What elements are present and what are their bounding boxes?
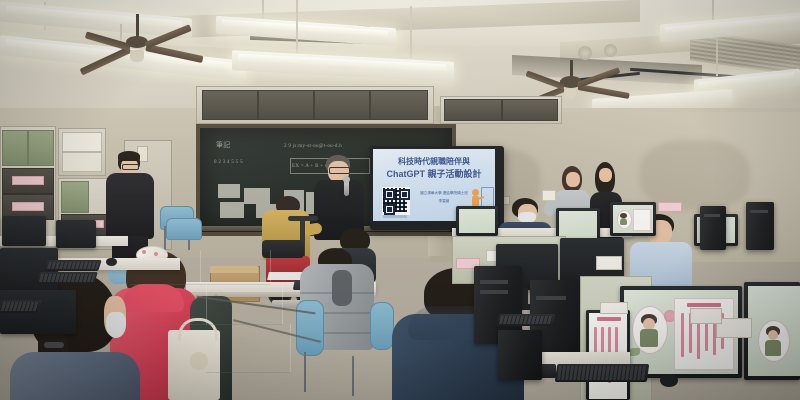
fleece-person-body bbox=[10, 352, 140, 400]
partition-label-2 bbox=[600, 302, 628, 314]
upper-cabinet-right-door-2 bbox=[502, 99, 558, 121]
mouse-front-left[interactable] bbox=[106, 258, 117, 266]
storage-door-green-3 bbox=[61, 181, 89, 213]
chair-puffer-back[interactable] bbox=[370, 302, 394, 350]
poster-figure-head-2 bbox=[768, 330, 778, 340]
slide-subtitle-line1: 國立清華大學 連結學院碩士班 bbox=[413, 191, 475, 196]
slide-qr-code[interactable] bbox=[382, 187, 410, 215]
upper-cabinet-door-2 bbox=[258, 90, 314, 120]
light-rod-6 bbox=[712, 0, 714, 22]
slide-watermark bbox=[383, 215, 407, 218]
standing-woman-left-body bbox=[106, 173, 154, 239]
standing-woman-left-glasses bbox=[122, 164, 139, 170]
poster-figure-body-back bbox=[620, 218, 627, 225]
board-paper-2 bbox=[244, 188, 270, 204]
chair-puffer[interactable] bbox=[296, 300, 324, 356]
wall-stain-2 bbox=[640, 140, 750, 210]
fan-light-left bbox=[130, 50, 144, 62]
monitor-front-right-secondary-screen bbox=[748, 286, 800, 376]
board-paper-3 bbox=[220, 202, 244, 218]
ceiling-speaker-right bbox=[604, 44, 617, 57]
left-cabinet-shelf-2 bbox=[62, 152, 102, 172]
standing-woman-a-held-paper bbox=[542, 190, 556, 201]
fan-rod-left bbox=[136, 14, 139, 38]
pc-slot-rb-2 bbox=[750, 210, 768, 213]
fan-light-right bbox=[564, 89, 576, 99]
keyboard-front-left-1[interactable] bbox=[44, 260, 102, 271]
poster-left-heading bbox=[597, 317, 621, 321]
storage-door-green-1 bbox=[2, 130, 28, 166]
puffer-seam-1 bbox=[300, 292, 374, 294]
chair-puffer-leg-b bbox=[352, 356, 354, 396]
qr-eye-bl bbox=[384, 204, 395, 215]
storage-box-label-2 bbox=[12, 202, 44, 211]
upper-cabinet-door-4 bbox=[370, 90, 428, 120]
qr-eye-tl bbox=[384, 189, 395, 200]
fleece-person-mask bbox=[106, 312, 126, 338]
qr-eye-tr bbox=[399, 189, 410, 200]
chair-puffer-leg-a bbox=[304, 352, 306, 392]
chalk-note-4: 0 2 3 4 5 5 5 bbox=[214, 160, 243, 165]
board-paper-1 bbox=[218, 184, 240, 198]
chalk-note-2: 2 9 js:my-st-ou@t-ou-d.h bbox=[284, 144, 342, 149]
upper-cabinet-right-door-1 bbox=[444, 99, 502, 121]
slide-title-line1: 科技時代親職陪伴與 bbox=[381, 157, 487, 167]
monitor-label-right-back-3 bbox=[658, 202, 682, 212]
mouse-front-right[interactable] bbox=[660, 374, 678, 387]
light-rod-7 bbox=[716, 40, 718, 76]
keyboard-front-left-3[interactable] bbox=[0, 300, 42, 313]
monitor-right-back-2-screen bbox=[559, 211, 597, 239]
monitor-label-mid-2 bbox=[596, 256, 622, 270]
slide-figure-head bbox=[472, 189, 479, 196]
floor-tile-1 bbox=[130, 250, 201, 285]
speaker-glasses bbox=[329, 167, 350, 174]
monitor-back-left-1 bbox=[2, 216, 46, 246]
keyboard-front-right[interactable] bbox=[555, 364, 650, 382]
keyboard-mid-right[interactable] bbox=[497, 314, 556, 326]
pc-tower-front-right bbox=[498, 330, 542, 380]
stacking-chair-2[interactable] bbox=[166, 218, 202, 240]
slide-subtitle-line2: 李嘉晉 bbox=[413, 199, 475, 204]
scooter-handlebar bbox=[288, 216, 318, 221]
pc-slot-mr-3 bbox=[536, 296, 566, 300]
floor-tile-3 bbox=[130, 284, 207, 325]
pc-tower-right-back-1 bbox=[700, 206, 726, 250]
pc-slot-mr-2 bbox=[480, 290, 508, 294]
poster-figure-body bbox=[640, 329, 658, 347]
standing-woman-left-fringe bbox=[118, 151, 140, 161]
classroom-photo-scene: 筆記 2 9 js:my-st-ou@t-ou-d.h EX = A + B +… bbox=[0, 0, 800, 400]
light-rod-4 bbox=[296, 0, 298, 58]
puffer-person-jacket-panel bbox=[332, 270, 352, 306]
poster-heading bbox=[687, 303, 721, 307]
pc-slot-mr-1 bbox=[480, 280, 508, 284]
poster-line-1 bbox=[681, 313, 684, 357]
microphone-head-icon bbox=[343, 176, 350, 183]
poster-figure-body-2 bbox=[765, 340, 781, 356]
upper-cabinet-door-3 bbox=[314, 90, 370, 120]
slide-title-line2: ChatGPT 親子活動設計 bbox=[381, 169, 487, 180]
monitor-back-left-2 bbox=[56, 220, 96, 248]
monitor-right-back-3-screen bbox=[613, 205, 653, 233]
chalk-note-1: 筆記 bbox=[216, 140, 231, 150]
ceiling-speaker-left bbox=[578, 46, 592, 60]
poster-card-back bbox=[633, 209, 651, 231]
monitor-right-back-1-screen bbox=[459, 209, 495, 233]
storage-box-label-1 bbox=[12, 176, 44, 185]
storage-door-green-2 bbox=[28, 130, 54, 166]
upper-cabinet-door-1 bbox=[202, 90, 258, 120]
monitor-front-left-1 bbox=[0, 248, 58, 294]
light-rod-5 bbox=[410, 6, 412, 58]
keyboard-front-left-2[interactable] bbox=[36, 272, 98, 284]
floor-tile-2 bbox=[200, 250, 271, 285]
pc-slot-rb-1 bbox=[704, 214, 720, 217]
standing-woman-b-face bbox=[599, 168, 612, 182]
fleece-person-hairtie bbox=[44, 342, 64, 348]
partition-label-3 bbox=[690, 308, 722, 324]
standing-woman-a-face bbox=[566, 172, 580, 187]
left-cabinet-shelf-1 bbox=[62, 132, 102, 152]
